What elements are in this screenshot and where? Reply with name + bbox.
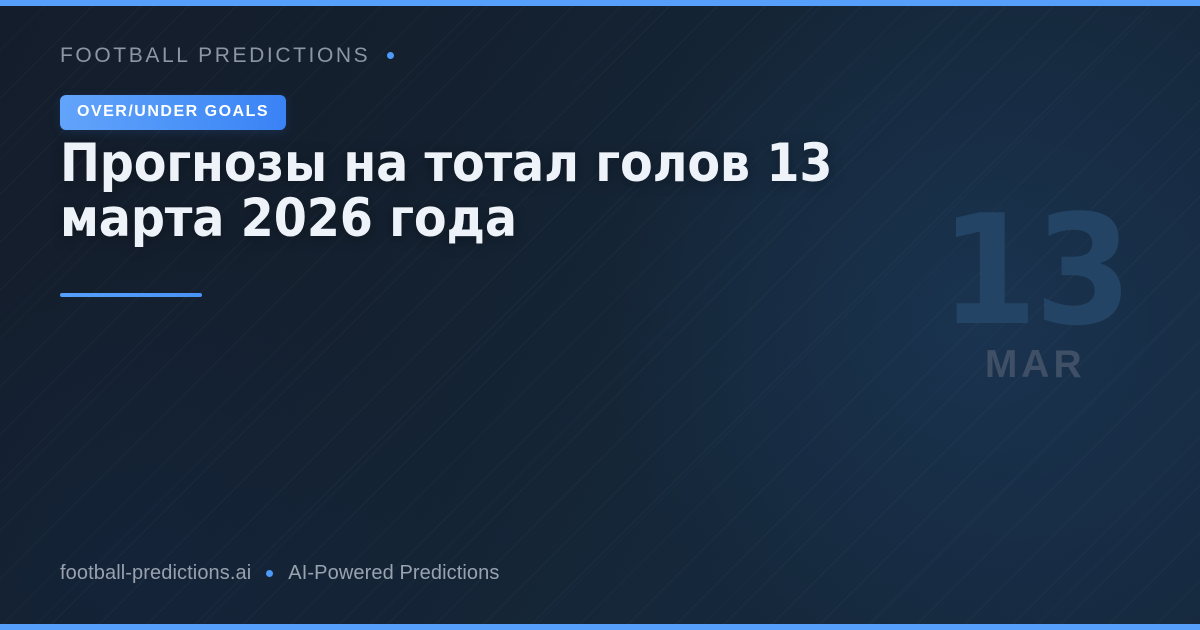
- title-accent-underline: [60, 293, 202, 297]
- card-content: FOOTBALL PREDICTIONS OVER/UNDER GOALS Пр…: [0, 0, 1200, 630]
- footer: football-predictions.ai AI-Powered Predi…: [60, 563, 499, 583]
- kicker-row: FOOTBALL PREDICTIONS: [60, 45, 394, 66]
- category-badge: OVER/UNDER GOALS: [60, 95, 286, 130]
- top-accent-bar: [0, 0, 1200, 6]
- bottom-accent-bar: [0, 624, 1200, 630]
- footer-site-name: football-predictions.ai: [60, 563, 251, 583]
- kicker-label: FOOTBALL PREDICTIONS: [60, 45, 370, 66]
- page-title: Прогнозы на тотал голов 13 марта 2026 го…: [60, 136, 897, 246]
- date-day: 13: [941, 206, 1130, 337]
- kicker-dot-icon: [387, 52, 394, 59]
- footer-tagline: AI-Powered Predictions: [288, 563, 499, 583]
- date-block: 13 MAR: [932, 206, 1138, 384]
- footer-separator-dot-icon: [266, 570, 273, 577]
- social-share-card: FOOTBALL PREDICTIONS OVER/UNDER GOALS Пр…: [0, 0, 1200, 630]
